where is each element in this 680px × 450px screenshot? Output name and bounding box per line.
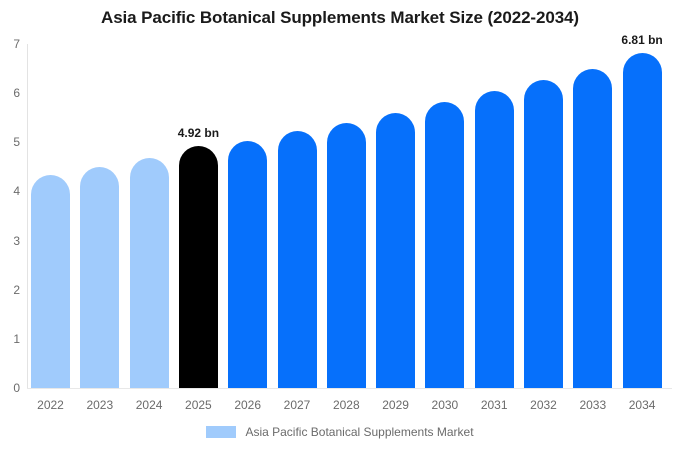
- x-tick-2031: 2031: [481, 398, 508, 412]
- bar-2030[interactable]: [425, 102, 464, 388]
- x-tick-2026: 2026: [234, 398, 261, 412]
- chart-title: Asia Pacific Botanical Supplements Marke…: [0, 8, 680, 28]
- bar-2025[interactable]: [179, 146, 218, 388]
- bar-2033[interactable]: [573, 69, 612, 388]
- y-tick-5: 5: [0, 135, 20, 149]
- y-tick-1: 1: [0, 332, 20, 346]
- x-tick-2034: 2034: [629, 398, 656, 412]
- bar-2031[interactable]: [475, 91, 514, 388]
- bar-2024[interactable]: [130, 158, 169, 388]
- y-tick-7: 7: [0, 37, 20, 51]
- legend-label: Asia Pacific Botanical Supplements Marke…: [245, 425, 473, 439]
- bar-2032[interactable]: [524, 80, 563, 388]
- bar-chart: Asia Pacific Botanical Supplements Marke…: [0, 0, 680, 450]
- x-tick-2022: 2022: [37, 398, 64, 412]
- bar-2026[interactable]: [228, 141, 267, 388]
- x-tick-2027: 2027: [284, 398, 311, 412]
- bar-2022[interactable]: [31, 175, 70, 388]
- bar-2029[interactable]: [376, 113, 415, 388]
- bar-2027[interactable]: [278, 131, 317, 388]
- legend-swatch-icon: [206, 426, 236, 438]
- x-tick-2025: 2025: [185, 398, 212, 412]
- y-tick-0: 0: [0, 381, 20, 395]
- data-label-2034: 6.81 bn: [621, 33, 662, 47]
- x-tick-2029: 2029: [382, 398, 409, 412]
- bar-2028[interactable]: [327, 123, 366, 388]
- bar-2023[interactable]: [80, 167, 119, 388]
- x-tick-2030: 2030: [432, 398, 459, 412]
- chart-legend: Asia Pacific Botanical Supplements Marke…: [0, 425, 680, 439]
- x-tick-2032: 2032: [530, 398, 557, 412]
- x-tick-2024: 2024: [136, 398, 163, 412]
- x-tick-2028: 2028: [333, 398, 360, 412]
- y-tick-4: 4: [0, 184, 20, 198]
- x-axis-baseline: [27, 388, 672, 389]
- y-axis-line: [27, 44, 28, 389]
- x-tick-2033: 2033: [579, 398, 606, 412]
- y-tick-3: 3: [0, 234, 20, 248]
- bar-2034[interactable]: [623, 53, 662, 388]
- data-label-2025: 4.92 bn: [178, 126, 219, 140]
- y-tick-2: 2: [0, 283, 20, 297]
- x-tick-2023: 2023: [86, 398, 113, 412]
- y-tick-6: 6: [0, 86, 20, 100]
